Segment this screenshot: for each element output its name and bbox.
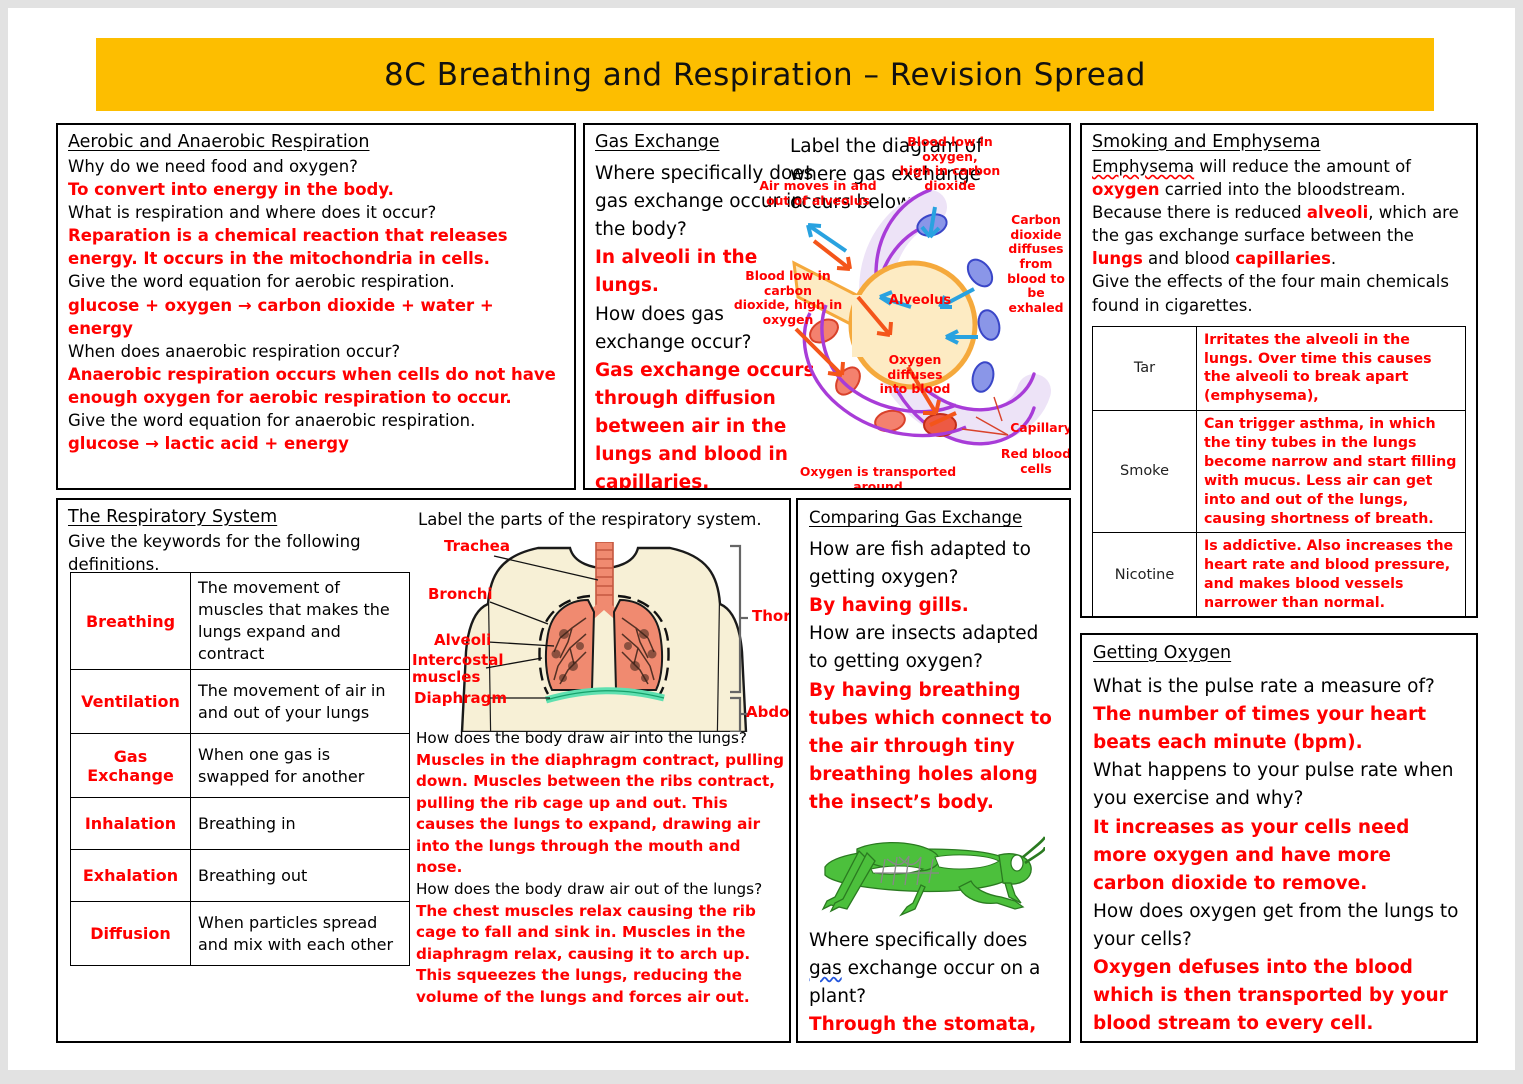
table-row: Ventilation The movement of air in and o… [71,670,410,734]
label-alveolus: Alveolus [885,293,955,308]
gas-exchange-heading: Gas Exchange [595,132,815,152]
label-trachea: Trachea [444,538,510,555]
panel-smoking-emphysema: Smoking and Emphysema Emphysema will red… [1080,123,1478,618]
getting-oxygen-line-3: It increases as your cells need more oxy… [1093,814,1465,898]
respiratory-line-3: The chest muscles relax causing the rib … [416,901,788,1009]
comparing-line-3: By having breathing tubes which connect … [809,677,1058,818]
label-blood-low-oxygen: Blood low in oxygen, high in carbon diox… [890,135,1010,194]
table-row: Inhalation Breathing in [71,798,410,850]
label-oxygen-transported: Oxygen is transported around the body in… [778,465,978,490]
smoking-intro-part-9: . [1331,249,1336,268]
aerobic-line-7: Anaerobic respiration occurs when cells … [68,363,564,409]
label-blood-low-carbon: Blood low in carbon dioxide, high in oxy… [725,269,851,328]
keyword-0: Breathing [71,573,191,670]
aerobic-line-6: When does anaerobic respiration occur? [68,340,564,363]
comparing-plant-answer: Through the stomata, on the underside of… [809,1011,1058,1043]
smoking-chemicals-table: Tar Irritates the alveoli in the lungs. … [1092,326,1466,618]
getting-oxygen-heading: Getting Oxygen [1093,643,1465,663]
smoking-prompt: Give the effects of the four main chemic… [1092,270,1466,316]
definition-5: When particles spread and mix with each … [191,902,410,966]
label-air-moves: Air moves in and out of alveolus [758,179,878,208]
smoking-intro-part-2: oxygen [1092,180,1159,199]
respiratory-line-1: Muscles in the diaphragm contract, pulli… [416,750,788,879]
respiratory-line-2: How does the body draw air out of the lu… [416,879,788,901]
smoking-intro-part-6: lungs [1092,249,1143,268]
definition-3: Breathing in [191,798,410,850]
definition-2: When one gas is swapped for another [191,734,410,798]
grasshopper-illustration [809,825,1058,917]
respiratory-torso-diagram: Trachea Bronchi Alveoli Intercostal musc… [418,542,788,732]
label-abdomen: Abdomen [746,704,791,721]
aerobic-line-9: glucose → lactic acid + energy [68,432,564,455]
table-row: Exhalation Breathing out [71,850,410,902]
keyword-3: Inhalation [71,798,191,850]
label-bronchi: Bronchi [428,586,493,603]
keyword-5: Diffusion [71,902,191,966]
panel-gas-exchange: Gas Exchange Where specifically does gas… [583,123,1071,490]
chemical-name-2: Nicotine [1093,533,1197,618]
respiratory-heading: The Respiratory System [68,507,438,527]
table-row: Carbon Monoxide Takes the place of oxyge… [1093,617,1466,618]
alveolus-diagram: Air moves in and out of alveolus Blood l… [780,185,1071,485]
definition-0: The movement of muscles that makes the l… [191,573,410,670]
chemical-name-0: Tar [1093,326,1197,411]
table-row: Breathing The movement of muscles that m… [71,573,410,670]
aerobic-line-8: Give the word equation for anaerobic res… [68,409,564,432]
aerobic-line-2: What is respiration and where does it oc… [68,201,564,224]
chemical-effect-3: Takes the place of oxygen in red blood c… [1197,617,1466,618]
table-row: Smoke Can trigger asthma, in which the t… [1093,411,1466,533]
getting-oxygen-line-0: What is the pulse rate a measure of? [1093,673,1465,701]
label-alveoli: Alveoli [434,632,491,649]
table-row: Tar Irritates the alveoli in the lungs. … [1093,326,1466,411]
panel-respiratory-system: The Respiratory System Give the keywords… [56,498,791,1043]
panel-getting-oxygen: Getting Oxygen What is the pulse rate a … [1080,633,1478,1043]
plant-question-pre: Where specifically does [809,930,1027,951]
label-thorax: Thorax [752,608,791,625]
aerobic-line-5: glucose + oxygen → carbon dioxide + wate… [68,294,564,340]
plant-question-post: exchange occur on a plant? [809,958,1040,1007]
respiratory-line-0: How does the body draw air into the lung… [416,728,788,750]
label-intercostal: Intercostal muscles [412,652,504,687]
smoking-intro-part-4: alveoli [1307,203,1368,222]
keyword-4: Exhalation [71,850,191,902]
chemical-name-3: Carbon Monoxide [1093,617,1197,618]
chemical-effect-2: Is addictive. Also increases the heart r… [1197,533,1466,618]
respiratory-subheading: Give the keywords for the following defi… [68,530,438,576]
chemical-effect-0: Irritates the alveoli in the lungs. Over… [1197,326,1466,411]
comparing-line-2: How are insects adapted to getting oxyge… [809,620,1058,676]
keyword-1: Ventilation [71,670,191,734]
label-capillary: Capillary [1006,421,1071,436]
smoking-intro: Emphysema will reduce the amount of oxyg… [1092,155,1466,270]
label-red-blood-cells: Red blood cells [1000,447,1071,476]
getting-oxygen-line-5: Oxygen defuses into the blood which is t… [1093,954,1465,1038]
grasshopper-svg [809,825,1045,917]
getting-oxygen-line-4: How does oxygen get from the lungs to yo… [1093,898,1465,954]
panel-comparing-gas-exchange: Comparing Gas Exchange How are fish adap… [796,498,1071,1043]
label-diaphragm: Diaphragm [414,690,507,707]
page-banner: 8C Breathing and Respiration – Revision … [96,38,1434,111]
definition-1: The movement of air in and out of your l… [191,670,410,734]
keyword-2: Gas Exchange [71,734,191,798]
label-oxygen-diffuses: Oxygen diffuses into blood [876,353,954,397]
smoking-intro-part-7: and blood [1143,249,1236,268]
comparing-plant-question: Where specifically does gas exchange occ… [809,927,1058,1011]
label-co2-diffuses: Carbon dioxide diffuses from blood to be… [1004,213,1068,315]
smoking-intro-part-1: will reduce the amount of [1194,157,1411,176]
table-row: Diffusion When particles spread and mix … [71,902,410,966]
comparing-heading: Comparing Gas Exchange [809,508,1058,527]
aerobic-line-4: Give the word equation for aerobic respi… [68,270,564,293]
table-row: Gas Exchange When one gas is swapped for… [71,734,410,798]
aerobic-line-1: To convert into energy in the body. [68,178,564,201]
page-title: 8C Breathing and Respiration – Revision … [384,57,1146,93]
aerobic-line-3: Reparation is a chemical reaction that r… [68,224,564,270]
getting-oxygen-line-2: What happens to your pulse rate when you… [1093,757,1465,813]
definition-4: Breathing out [191,850,410,902]
aerobic-line-0: Why do we need food and oxygen? [68,155,564,178]
getting-oxygen-line-1: The number of times your heart beats eac… [1093,701,1465,757]
smoking-intro-part-0: Emphysema [1092,157,1194,176]
smoking-heading: Smoking and Emphysema [1092,132,1466,152]
aerobic-heading: Aerobic and Anaerobic Respiration [68,132,564,152]
chemical-effect-1: Can trigger asthma, in which the tiny tu… [1197,411,1466,533]
panel-aerobic-anaerobic-respiration: Aerobic and Anaerobic Respiration Why do… [56,123,576,490]
table-row: Nicotine Is addictive. Also increases th… [1093,533,1466,618]
revision-spread-page: 8C Breathing and Respiration – Revision … [8,8,1515,1070]
comparing-line-0: How are fish adapted to getting oxygen? [809,536,1058,592]
plant-question-gas: gas [809,958,842,979]
smoking-intro-part-8: capillaries [1235,249,1331,268]
respiratory-instruction: Label the parts of the respiratory syste… [418,508,788,531]
chemical-name-1: Smoke [1093,411,1197,533]
respiratory-keyword-table: Breathing The movement of muscles that m… [70,572,410,966]
comparing-line-1: By having gills. [809,592,1058,620]
